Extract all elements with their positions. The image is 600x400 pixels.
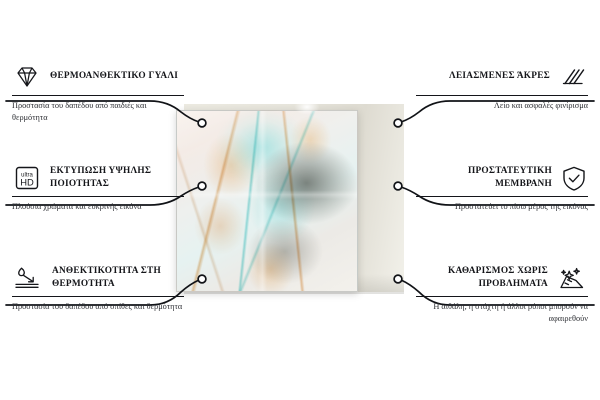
- feature-protective-membrane[interactable]: ΠΡΟΣΤΑΤΕΥΤΙΚΗ ΜΕΜΒΡΑΝΗ Προστατεύει το πί…: [416, 163, 588, 213]
- shield-check-icon: [560, 165, 588, 192]
- product-stage: [176, 104, 404, 296]
- feature-description: Προστασία του δαπέδου από σπίθες και θερ…: [12, 301, 184, 313]
- feature-divider: [416, 95, 588, 96]
- glass-glare-highlight: [294, 99, 320, 115]
- polished-edges-icon: [558, 65, 588, 89]
- feature-header: ΑΝΘΕΚΤΙΚΟΤΗΤΑ ΣΤΗ ΘΕΡΜΟΤΗΤΑ: [12, 263, 184, 293]
- feature-header: ΛΕΙΑΣΜΕΝΕΣ ΆΚΡΕΣ: [416, 62, 588, 92]
- feature-easy-cleaning[interactable]: ΚΑΘΑΡΙΣΜΟΣ ΧΩΡΙΣ ΠΡΟΒΛΗΜΑΤΑ Η αιθάλη, η …: [416, 263, 588, 325]
- diamond-icon: [12, 65, 42, 89]
- flame-resistance-icon: [12, 265, 44, 291]
- feature-title: ΚΑΘΑΡΙΣΜΟΣ ΧΩΡΙΣ ΠΡΟΒΛΗΜΑΤΑ: [416, 265, 548, 291]
- feature-divider: [12, 296, 184, 297]
- feature-divider: [416, 296, 588, 297]
- feature-title: ΘΕΡΜΟΑΝΘΕΚΤΙΚΟ ΓΥΑΛΙ: [50, 70, 178, 83]
- feature-description: Πλούσια χρώματα και ευκρινής εικόνα: [12, 201, 184, 213]
- feature-description: Η αιθάλη, η στάχτη ή άλλοι ρύποι μπορούν…: [416, 301, 588, 325]
- badge-hd-text: HD: [20, 176, 34, 187]
- feature-header: ΠΡΟΣΤΑΤΕΥΤΙΚΗ ΜΕΜΒΡΑΝΗ: [416, 163, 588, 193]
- feature-title: ΠΡΟΣΤΑΤΕΥΤΙΚΗ ΜΕΜΒΡΑΝΗ: [416, 165, 552, 191]
- glass-reflection: [177, 111, 357, 291]
- ultra-hd-badge-icon: ultra HD: [12, 165, 42, 191]
- feature-description: Λείο και ασφαλές φινίρισμα: [416, 100, 588, 112]
- feature-divider: [416, 196, 588, 197]
- feature-heat-durability[interactable]: ΑΝΘΕΚΤΙΚΟΤΗΤΑ ΣΤΗ ΘΕΡΜΟΤΗΤΑ Προστασία το…: [12, 263, 184, 313]
- sparkle-clean-icon: [556, 265, 588, 292]
- feature-divider: [12, 196, 184, 197]
- feature-description: Προστασία του δαπέδου από παιδιές και θε…: [12, 100, 184, 124]
- glass-splashback-panel[interactable]: [176, 110, 358, 292]
- feature-polished-edges[interactable]: ΛΕΙΑΣΜΕΝΕΣ ΆΚΡΕΣ Λείο και ασφαλές φινίρι…: [416, 62, 588, 112]
- feature-title: ΛΕΙΑΣΜΕΝΕΣ ΆΚΡΕΣ: [449, 70, 550, 83]
- feature-high-quality-print[interactable]: ultra HD ΕΚΤΥΠΩΣΗ ΥΨΗΛΗΣ ΠΟΙΟΤΗΤΑΣ Πλούσ…: [12, 163, 184, 213]
- feature-title: ΕΚΤΥΠΩΣΗ ΥΨΗΛΗΣ ΠΟΙΟΤΗΤΑΣ: [50, 165, 184, 191]
- feature-header: ΘΕΡΜΟΑΝΘΕΚΤΙΚΟ ΓΥΑΛΙ: [12, 62, 184, 92]
- feature-header: ΚΑΘΑΡΙΣΜΟΣ ΧΩΡΙΣ ΠΡΟΒΛΗΜΑΤΑ: [416, 263, 588, 293]
- feature-heat-resistant-glass[interactable]: ΘΕΡΜΟΑΝΘΕΚΤΙΚΟ ΓΥΑΛΙ Προστασία του δαπέδ…: [12, 62, 184, 124]
- feature-description: Προστατεύει το πίσω μέρος της εικόνας: [416, 201, 588, 213]
- feature-divider: [12, 95, 184, 96]
- feature-title: ΑΝΘΕΚΤΙΚΟΤΗΤΑ ΣΤΗ ΘΕΡΜΟΤΗΤΑ: [52, 265, 184, 291]
- feature-header: ultra HD ΕΚΤΥΠΩΣΗ ΥΨΗΛΗΣ ΠΟΙΟΤΗΤΑΣ: [12, 163, 184, 193]
- product-feature-infographic: ΘΕΡΜΟΑΝΘΕΚΤΙΚΟ ΓΥΑΛΙ Προστασία του δαπέδ…: [0, 0, 600, 400]
